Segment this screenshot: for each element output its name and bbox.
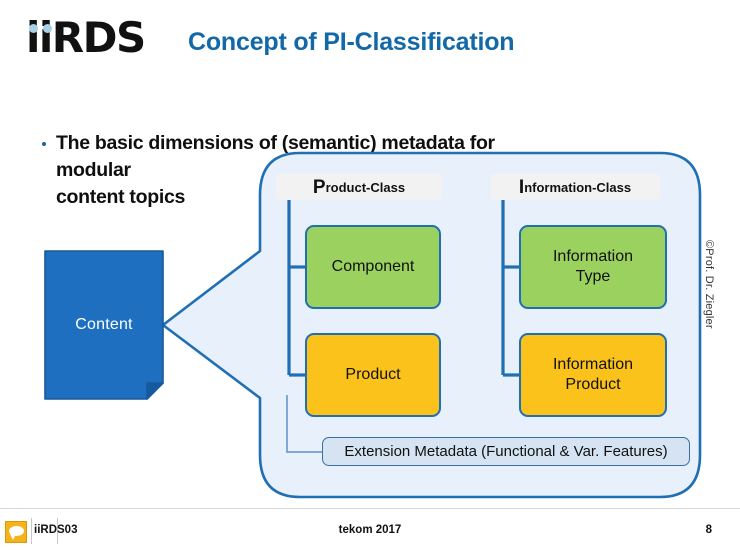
logo-wordmark: iiRDS [26,14,145,62]
product-class-initial: P [313,178,326,197]
node-information-product-line-1: Information [553,356,633,373]
node-component-label: Component [332,257,415,277]
slide-canvas: iiRDS Concept of PI-Classification The b… [0,0,740,550]
information-class-rest: nformation-Class [524,178,631,197]
extension-metadata-label: Extension Metadata (Functional & Var. Fe… [344,443,667,460]
bullet-dot-icon [42,142,46,146]
node-information-type: InformationType [519,225,667,309]
node-information-product: InformationProduct [519,333,667,417]
footer-page-number: 8 [706,524,712,536]
node-information-product-line-2: Product [565,376,620,393]
information-class-header: Information-Class [490,174,660,200]
content-node: Content [45,251,163,399]
iirds-logo: iiRDS [26,14,156,62]
node-product: Product [305,333,441,417]
footer-divider [0,508,740,509]
node-information-product-label: InformationProduct [553,355,633,395]
product-class-rest: roduct-Class [326,178,405,197]
node-information-type-line-1: Information [553,248,633,265]
node-information-type-label: InformationType [553,247,633,287]
node-component: Component [305,225,441,309]
extension-metadata-node: Extension Metadata (Functional & Var. Fe… [322,437,690,466]
node-product-label: Product [345,365,400,385]
node-information-type-line-2: Type [576,268,611,285]
bullet-line-1: The basic dimensions of (semantic) metad… [56,132,495,154]
footer-event: tekom 2017 [0,524,740,536]
logo-dot-icon [29,24,38,33]
logo-dot-icon [43,24,52,33]
product-class-header: Product-Class [276,174,442,200]
copyright-text: ©Prof. Dr. Ziegler [703,240,715,329]
content-node-label: Content [45,251,163,399]
page-title: Concept of PI-Classification [188,28,514,57]
